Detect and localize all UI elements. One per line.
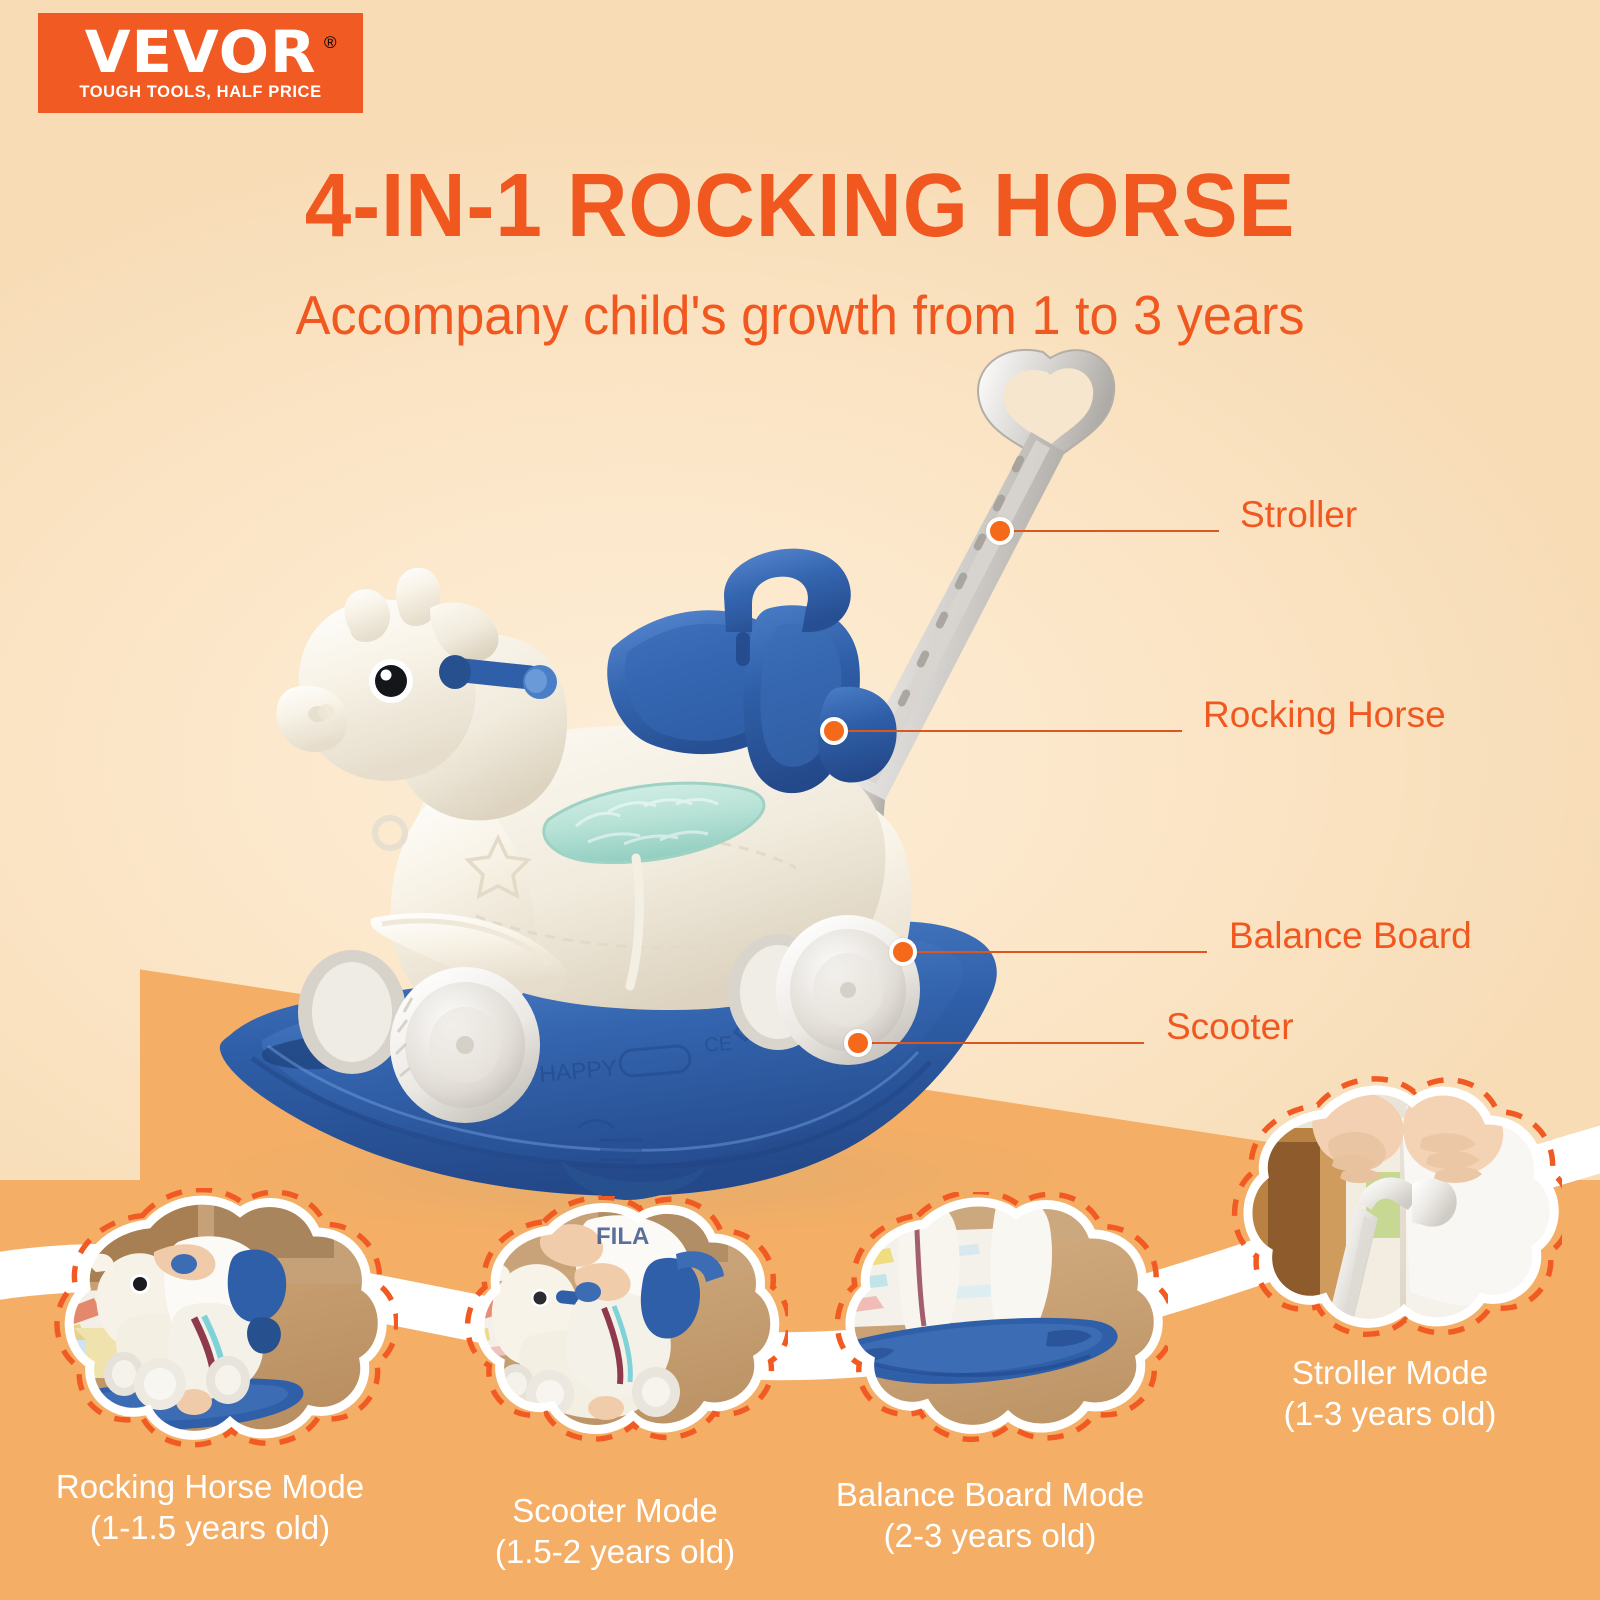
- callout-line-rocking-horse: [848, 730, 1182, 732]
- callout-dot-stroller[interactable]: [986, 517, 1014, 545]
- mode-age-2: (1.5-2 years old): [405, 1531, 825, 1572]
- thumbnail-balance-board-mode[interactable]: [808, 1192, 1168, 1448]
- callout-label-stroller: Stroller: [1240, 494, 1357, 536]
- callout-dot-rocking-horse[interactable]: [820, 717, 848, 745]
- callout-label-rocking-horse: Rocking Horse: [1203, 694, 1446, 736]
- svg-text:FILA: FILA: [596, 1223, 649, 1250]
- thumbnail-rocking-horse-mode[interactable]: [28, 1188, 398, 1458]
- thumbnail-caption-stroller-mode: Stroller Mode (1-3 years old): [1180, 1352, 1600, 1434]
- thumbnail-scooter-mode[interactable]: FILA: [438, 1196, 788, 1452]
- callout-label-scooter: Scooter: [1166, 1006, 1294, 1048]
- mode-name-1: Rocking Horse Mode: [0, 1466, 420, 1507]
- mode-age-3: (2-3 years old): [790, 1515, 1190, 1556]
- callout-line-stroller: [1014, 530, 1219, 532]
- mode-name-3: Balance Board Mode: [790, 1474, 1190, 1515]
- callout-dot-scooter[interactable]: [844, 1029, 872, 1057]
- thumbnail-caption-balance-board-mode: Balance Board Mode (2-3 years old): [790, 1474, 1190, 1556]
- thumbnail-caption-rocking-horse-mode: Rocking Horse Mode (1-1.5 years old): [0, 1466, 420, 1548]
- mode-name-4: Stroller Mode: [1180, 1352, 1600, 1393]
- callout-label-balance-board: Balance Board: [1229, 915, 1472, 957]
- callout-line-scooter: [872, 1042, 1144, 1044]
- thumbnail-caption-scooter-mode: Scooter Mode (1.5-2 years old): [405, 1490, 825, 1572]
- callout-line-balance-board: [917, 951, 1207, 953]
- mode-age-1: (1-1.5 years old): [0, 1507, 420, 1548]
- thumbnail-stroller-mode[interactable]: [1216, 1076, 1562, 1346]
- mode-name-2: Scooter Mode: [405, 1490, 825, 1531]
- callout-dot-balance-board[interactable]: [889, 938, 917, 966]
- mode-age-4: (1-3 years old): [1180, 1393, 1600, 1434]
- infographic-canvas: VEVOR ® TOUGH TOOLS, HALF PRICE 4-IN-1 R…: [0, 0, 1600, 1600]
